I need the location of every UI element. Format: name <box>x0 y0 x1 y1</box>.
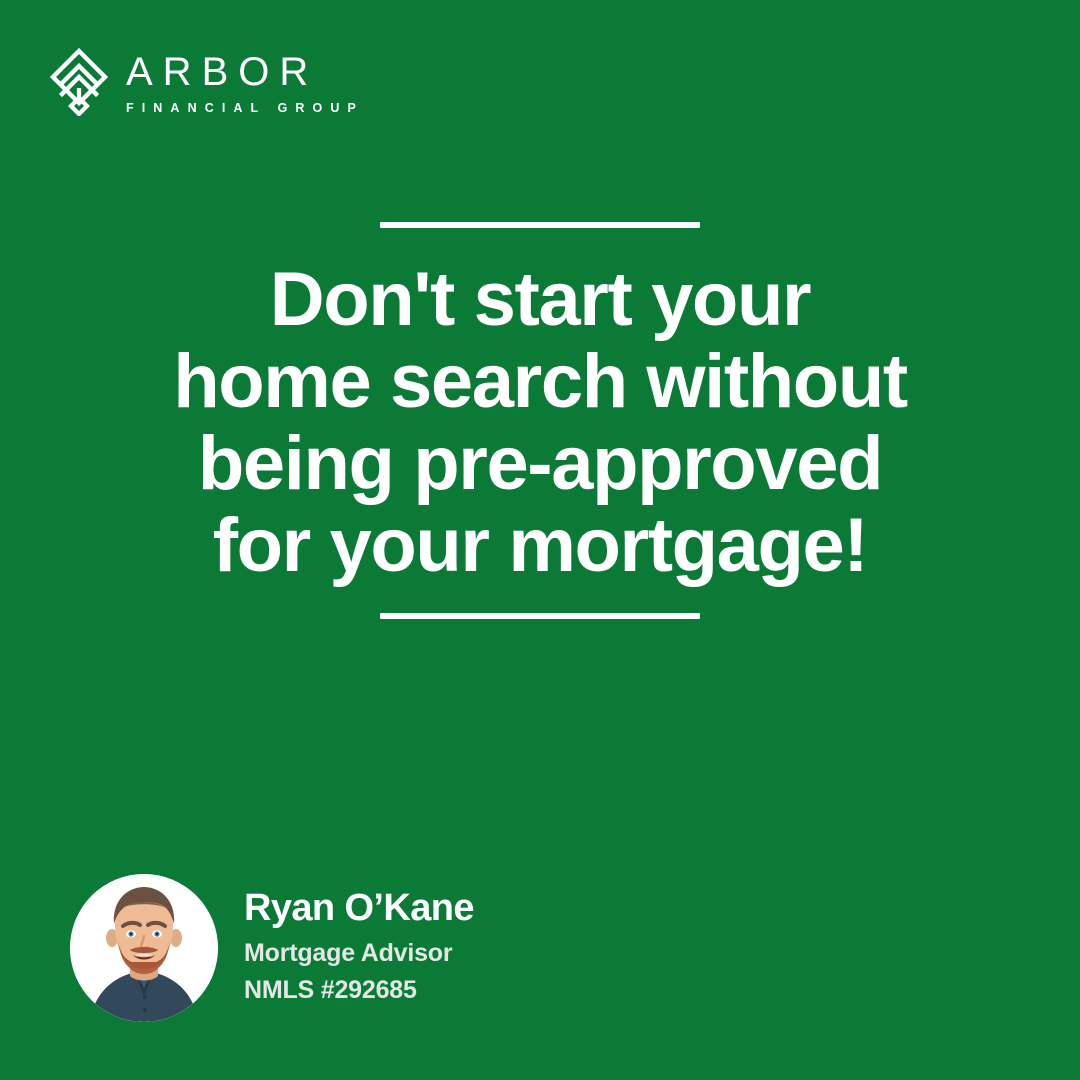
brand-tagline: FINANCIAL GROUP <box>126 102 364 115</box>
headline-block: Don't start your home search without bei… <box>0 222 1080 619</box>
page-title: Don't start your home search without bei… <box>173 259 907 587</box>
headline-line-1: Don't start your <box>173 259 907 341</box>
brand-lockup: ARBOR FINANCIAL GROUP <box>48 48 364 116</box>
brand-name: ARBOR <box>126 51 364 93</box>
headline-line-3: being pre-approved <box>173 423 907 505</box>
advisor-title: Mortgage Advisor <box>244 940 474 967</box>
headline-rule-top <box>380 222 700 228</box>
social-graphic-canvas: ARBOR FINANCIAL GROUP Don't start your h… <box>0 0 1080 1080</box>
avatar <box>70 874 218 1022</box>
headline-rule-bottom <box>380 613 700 619</box>
headline-line-2: home search without <box>173 341 907 423</box>
advisor-name: Ryan O’Kane <box>244 888 474 929</box>
brand-wordmark: ARBOR FINANCIAL GROUP <box>126 49 364 115</box>
arbor-diamond-chevron-logo-icon <box>48 48 110 116</box>
advisor-nmls-license: NMLS #292685 <box>244 977 474 1004</box>
advisor-details: Ryan O’Kane Mortgage Advisor NMLS #29268… <box>244 888 474 1007</box>
headline-line-4: for your mortgage! <box>173 505 907 587</box>
advisor-card: Ryan O’Kane Mortgage Advisor NMLS #29268… <box>70 874 474 1022</box>
